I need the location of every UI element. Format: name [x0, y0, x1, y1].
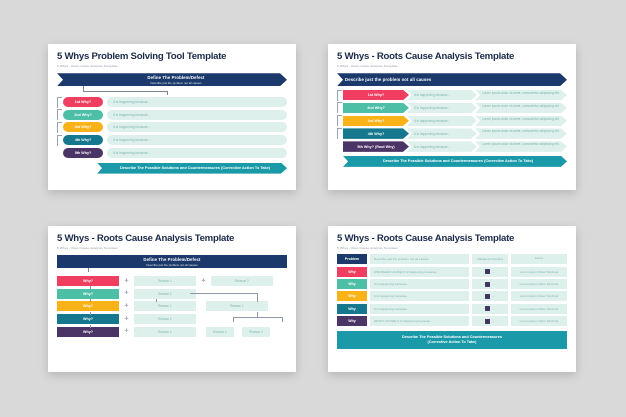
connector-line	[90, 325, 91, 328]
arrow-icon: →	[492, 270, 495, 274]
why-reason-field[interactable]: It is happening because...	[107, 135, 287, 145]
arrow-icon: →	[492, 294, 495, 298]
why-row[interactable]: 4th Why? It is happening because... Lore…	[343, 128, 567, 139]
slide-1-problem-banner: Define The Problem/Defect Describe just …	[57, 73, 287, 86]
why-row[interactable]: Why? ✛ Reason 1 Reason 1	[57, 301, 287, 311]
slide-3-problem-banner: Define The Problem/Defect Describe just …	[57, 255, 287, 268]
why-row[interactable]: 4th Why? It is happening because...	[63, 135, 287, 145]
banner-title: Define The Problem/Defect	[143, 257, 200, 262]
why-note-field[interactable]: Lorem ipsum dolor sit amet, consectetur …	[475, 141, 567, 152]
bracket-icon	[337, 102, 342, 113]
why-text[interactable]: It is happening because...	[370, 279, 469, 289]
checkbox-icon[interactable]	[485, 269, 490, 274]
checkbox-icon[interactable]	[485, 282, 490, 287]
connector-line	[233, 317, 282, 318]
why-text[interactable]: (PROBLEM CAUSE) It is happening because.…	[370, 267, 469, 277]
plus-icon: ✛	[201, 279, 206, 284]
why-text[interactable]: (ROOT CAUSE) It is happening because...	[370, 316, 469, 326]
why-note-field[interactable]: Lorem ipsum dolor sit amet, consectetur …	[475, 116, 567, 127]
slide-card-2[interactable]: 5 Whys - Roots Cause Analysis Template 5…	[328, 44, 576, 190]
leaf-label: Reason 1	[213, 330, 227, 334]
slide-3-title: 5 Whys - Roots Cause Analysis Template	[57, 234, 287, 244]
connector-line	[90, 299, 91, 302]
why-reason-field[interactable]: It is happening because...	[107, 122, 287, 132]
leaf-box[interactable]: Reason 2	[242, 327, 270, 337]
action-cell[interactable]: Lorem Ipsum Dolor Sit Amet	[511, 279, 567, 289]
why-chip[interactable]: Why	[337, 316, 367, 326]
connector-line	[90, 286, 91, 289]
slide-2-title: 5 Whys - Roots Cause Analysis Template	[337, 52, 567, 62]
slide-4-title: 5 Whys - Roots Cause Analysis Template	[337, 234, 567, 244]
connector-line	[282, 317, 283, 322]
bracket-icon	[337, 128, 342, 139]
why-reason-field[interactable]: It is happening because...	[407, 103, 477, 114]
connector-line	[156, 299, 157, 302]
slide-card-4[interactable]: 5 Whys - Roots Cause Analysis Template 5…	[328, 226, 576, 372]
why-chip[interactable]: 4th Why?	[63, 135, 103, 145]
slide-1-footer-bar[interactable]: Describe The Possible Solutions and Coun…	[97, 163, 287, 174]
why-chip[interactable]: Why?	[57, 301, 119, 311]
arrow-icon: →	[492, 307, 495, 311]
slide-2-why-list: 1st Why? It is happening because... Lore…	[337, 90, 567, 152]
slide-1-subtitle: 5 Whys - Root Cause Analysis Template	[57, 64, 287, 68]
connector-line	[88, 268, 89, 272]
connector-line	[233, 317, 234, 322]
plus-icon: ✛	[124, 279, 129, 284]
why-chip[interactable]: 3rd Why?	[343, 116, 409, 127]
why-chip[interactable]: Why	[337, 279, 367, 289]
action-cell[interactable]: Lorem Ipsum Dolor Sit Amet	[511, 291, 567, 301]
action-cell[interactable]: Lorem Ipsum Dolor Sit Amet	[511, 316, 567, 326]
footer-line-2: (Corrective Action To Take)	[402, 340, 502, 345]
why-row[interactable]: 1st Why? It is happening because... Lore…	[343, 90, 567, 101]
connector-line	[90, 312, 91, 315]
bracket-icon	[57, 122, 62, 133]
validated-cell[interactable]: →	[472, 279, 508, 289]
why-chip[interactable]: 1st Why?	[343, 90, 409, 101]
arrow-icon: →	[492, 319, 495, 323]
why-chip[interactable]: Why	[337, 267, 367, 277]
reason-box[interactable]: Reason 1	[134, 276, 196, 286]
why-chip[interactable]: Why?	[57, 289, 119, 299]
slide-3-subtitle: 5 Whys - Root Cause Analysis Template	[57, 246, 287, 250]
bracket-icon	[57, 109, 62, 120]
why-reason-field[interactable]: It is happening because...	[407, 128, 477, 139]
connector-line	[167, 91, 168, 95]
why-row[interactable]: 5th Why? (Root Why) It is happening beca…	[343, 141, 567, 152]
why-row[interactable]: 3rd Why? It is happening because...	[63, 122, 287, 132]
why-row[interactable]: 2nd Why? It is happening because... Lore…	[343, 103, 567, 114]
why-row[interactable]: 1st Why? It is happening because...	[63, 97, 287, 107]
slide-3-why-grid: Why? ✛ Reason 1 ✛ Reason 2 Why? ✛ Reason…	[57, 276, 287, 336]
table-row[interactable]: Why It is happening because... → Lorem I…	[337, 304, 567, 314]
slide-card-3[interactable]: 5 Whys - Roots Cause Analysis Template 5…	[48, 226, 296, 372]
why-chip[interactable]: Why?	[57, 314, 119, 324]
table-header-row: Problem Describe just the problem not al…	[337, 254, 567, 264]
slide-2-subtitle: 5 Whys - Root Cause Analysis Template	[337, 64, 567, 68]
why-note-field[interactable]: Lorem ipsum dolor sit amet, consectetur …	[475, 90, 567, 101]
why-reason-field[interactable]: It is happening because...	[107, 97, 287, 107]
table-row[interactable]: Why It is happening because... → Lorem I…	[337, 291, 567, 301]
action-cell[interactable]: Lorem Ipsum Dolor Sit Amet	[511, 304, 567, 314]
banner-title: Describe just the problem not all causes	[345, 77, 431, 82]
why-text[interactable]: It is happening because...	[370, 291, 469, 301]
plus-icon: ✛	[124, 291, 129, 296]
why-reason-field[interactable]: It is happening because...	[407, 116, 477, 127]
column-header-action: Action	[511, 254, 567, 264]
why-chip[interactable]: Why	[337, 291, 367, 301]
banner-title: Define The Problem/Defect	[147, 75, 204, 80]
checkbox-icon[interactable]	[485, 306, 490, 311]
table-row[interactable]: Why (ROOT CAUSE) It is happening because…	[337, 316, 567, 326]
why-row[interactable]: 5th Why? It is happening because...	[63, 148, 287, 158]
slide-4-subtitle: 5 Whys - Root Cause Analysis Template	[337, 246, 567, 250]
leaf-label: Reason 2	[249, 330, 263, 334]
why-chip[interactable]: Why?	[57, 327, 119, 337]
bracket-icon	[57, 97, 62, 108]
reason-box[interactable]: Reason 1	[134, 289, 196, 299]
why-row[interactable]: 2nd Why? It is happening because...	[63, 110, 287, 120]
bracket-icon	[337, 90, 342, 101]
why-reason-field[interactable]: It is happening because...	[407, 90, 477, 101]
why-chip[interactable]: Why?	[57, 276, 119, 286]
plus-icon: ✛	[124, 304, 129, 309]
arrow-icon: →	[492, 282, 495, 286]
slide-2-footer-bar[interactable]: Describe The Possible Solutions and Coun…	[343, 156, 567, 167]
problem-chip: Problem	[337, 254, 367, 264]
banner-subtitle: Describe just the problem not all causes	[146, 263, 197, 267]
connector-line	[83, 91, 167, 92]
why-chip[interactable]: 3rd Why?	[63, 122, 103, 132]
why-chip[interactable]: 5th Why?	[63, 148, 103, 158]
why-row[interactable]: Why? ✛ Reason 1 Reason 1 Reason 2	[57, 327, 287, 337]
why-chip[interactable]: 5th Why? (Root Why)	[343, 141, 409, 152]
why-chip[interactable]: 2nd Why?	[63, 110, 103, 120]
validated-cell[interactable]: →	[472, 304, 508, 314]
why-chip[interactable]: 4th Why?	[343, 128, 409, 139]
why-reason-field[interactable]: It is happening because...	[407, 141, 477, 152]
why-text[interactable]: It is happening because...	[370, 304, 469, 314]
why-row[interactable]: Why? ✛ Reason 1	[57, 314, 287, 324]
plus-icon: ✛	[124, 329, 129, 334]
banner-subtitle: Describe just the problem not all causes	[150, 81, 201, 85]
reason-box[interactable]: Reason 1	[134, 314, 196, 324]
checkbox-icon[interactable]	[485, 294, 490, 299]
checkbox-icon[interactable]	[485, 319, 490, 324]
reason-box[interactable]: Reason 1	[206, 301, 268, 311]
slide-1-title: 5 Whys Problem Solving Tool Template	[57, 52, 287, 62]
leaf-box[interactable]: Reason 1	[206, 327, 234, 337]
slide-4-table: Problem Describe just the problem not al…	[337, 254, 567, 326]
why-chip[interactable]: 1st Why?	[63, 97, 103, 107]
table-row[interactable]: Why (PROBLEM CAUSE) It is happening beca…	[337, 267, 567, 277]
slide-2-problem-banner: Describe just the problem not all causes	[337, 73, 567, 86]
why-row[interactable]: Why? ✛ Reason 1	[57, 289, 287, 299]
slide-4-footer-bar[interactable]: Describe The Possible Solutions and Coun…	[337, 331, 567, 349]
connector-line	[257, 293, 258, 302]
why-row[interactable]: Why? ✛ Reason 1 ✛ Reason 2	[57, 276, 287, 286]
column-header-check: Validated/ Checked	[472, 254, 508, 264]
connector-line	[190, 293, 257, 294]
slide-1-why-list: 1st Why? It is happening because... 2nd …	[57, 97, 287, 157]
reason-box[interactable]: Reason 1	[134, 327, 196, 337]
problem-text[interactable]: Describe just the problem not all causes	[370, 254, 469, 264]
validated-cell[interactable]: →	[472, 291, 508, 301]
why-reason-field[interactable]: It is happening because...	[107, 148, 287, 158]
why-row[interactable]: 3rd Why? It is happening because... Lore…	[343, 116, 567, 127]
validated-cell[interactable]: →	[472, 316, 508, 326]
why-chip[interactable]: Why	[337, 304, 367, 314]
validated-cell[interactable]: →	[472, 267, 508, 277]
slide-card-1[interactable]: 5 Whys Problem Solving Tool Template 5 W…	[48, 44, 296, 190]
bracket-icon	[337, 115, 342, 126]
bracket-icon	[57, 135, 62, 146]
table-row[interactable]: Why It is happening because... → Lorem I…	[337, 279, 567, 289]
plus-icon: ✛	[124, 317, 129, 322]
reason-box[interactable]: Reason 1	[134, 301, 196, 311]
why-reason-field[interactable]: It is happening because...	[107, 110, 287, 120]
action-cell[interactable]: Lorem Ipsum Dolor Sit Amet	[511, 267, 567, 277]
why-chip[interactable]: 2nd Why?	[343, 103, 409, 114]
reason-box[interactable]: Reason 2	[211, 276, 273, 286]
slide-gallery: 5 Whys Problem Solving Tool Template 5 W…	[0, 0, 626, 417]
why-note-field[interactable]: Lorem ipsum dolor sit amet, consectetur …	[475, 103, 567, 114]
why-note-field[interactable]: Lorem ipsum dolor sit amet, consectetur …	[475, 128, 567, 139]
